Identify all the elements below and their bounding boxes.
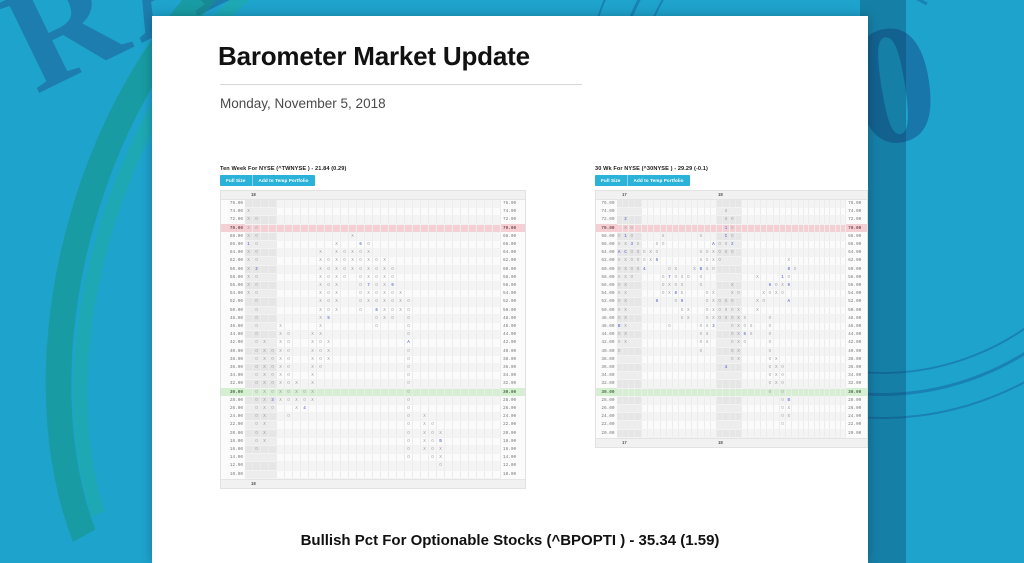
pnf-cell: X	[309, 364, 317, 372]
slide-document: Barometer Market Update Monday, November…	[152, 16, 868, 563]
pnf-cell	[477, 364, 485, 372]
pnf-cell	[389, 241, 397, 249]
pnf-cell	[341, 306, 349, 314]
pnf-cell	[421, 355, 429, 363]
pnf-o-mark: O	[618, 332, 621, 337]
pnf-o-mark: O	[775, 283, 778, 288]
pnf-cell: O	[253, 347, 261, 355]
pnf-cell: X	[317, 265, 325, 273]
pnf-row: 10.0010.00	[221, 470, 525, 478]
pnf-row: 62.00OXOXOX5XOXOX62.00	[596, 257, 867, 265]
pnf-cell	[493, 306, 501, 314]
pnf-cell	[397, 462, 405, 470]
pnf-x-mark: X	[693, 267, 696, 272]
pnf-cell: X	[317, 298, 325, 306]
pnf-cell	[493, 429, 501, 437]
pnf-cell	[341, 462, 349, 470]
pnf-cell	[453, 364, 461, 372]
pnf-cell: X	[421, 413, 429, 421]
add-to-temp-portfolio-button[interactable]: Add to Temp Portfolio	[252, 175, 315, 186]
pnf-cell	[269, 470, 277, 478]
pnf-x-mark: X	[649, 258, 652, 263]
y-axis-label-right: 52.00	[846, 298, 867, 306]
pnf-month-marker: B	[439, 439, 442, 444]
pnf-row: 32.00OXOXOXXO32.00	[221, 380, 525, 388]
pnf-x-mark: X	[263, 381, 266, 386]
pnf-cell	[301, 355, 309, 363]
pnf-cell	[373, 216, 381, 224]
pnf-o-mark: O	[731, 250, 734, 255]
pnf-cell	[461, 298, 469, 306]
pnf-cell	[493, 290, 501, 298]
pnf-cell	[469, 282, 477, 290]
pnf-x-mark: X	[247, 217, 250, 222]
pnf-row: 50.00OXOXOXOXOXX50.00	[596, 306, 867, 314]
pnf-cell	[381, 470, 389, 478]
pnf-cell	[413, 232, 421, 240]
pnf-cell	[461, 462, 469, 470]
pnf-cell	[317, 208, 325, 216]
pnf-row: 28.00OX3XOXOXO28.00	[221, 396, 525, 404]
pnf-cell	[469, 314, 477, 322]
pnf-cell: O	[389, 306, 397, 314]
pnf-cell	[493, 257, 501, 265]
pnf-cell: O	[341, 249, 349, 257]
pnf-cell: O	[253, 232, 261, 240]
pnf-o-mark: O	[407, 398, 410, 403]
pnf-x-mark: X	[311, 398, 314, 403]
pnf-cell	[389, 323, 397, 331]
pnf-cell	[485, 224, 493, 232]
pnf-cell	[445, 331, 453, 339]
pnf-o-mark: O	[375, 267, 378, 272]
pnf-cell: A	[405, 339, 413, 347]
year-bar-bottom-1: 1718	[596, 438, 867, 447]
pnf-o-mark: O	[687, 275, 690, 280]
pnf-cell: X	[261, 421, 269, 429]
pnf-cell	[301, 429, 309, 437]
pnf-cell	[493, 200, 501, 208]
pnf-o-mark: O	[700, 283, 703, 288]
pnf-cell	[493, 273, 501, 281]
pnf-o-mark: O	[643, 258, 646, 263]
pnf-cell	[325, 429, 333, 437]
pnf-x-mark: X	[712, 258, 715, 263]
pnf-cell	[373, 355, 381, 363]
pnf-cell: X	[365, 257, 373, 265]
pnf-month-marker: 1	[725, 226, 728, 231]
y-axis-label-right: 60.00	[501, 265, 526, 273]
pnf-x-mark: X	[295, 406, 298, 411]
pnf-cell	[413, 372, 421, 380]
y-axis-label-right: 72.00	[846, 216, 867, 224]
pnf-cell	[301, 273, 309, 281]
pnf-x-mark: X	[319, 324, 322, 329]
pnf-cell	[269, 249, 277, 257]
pnf-cell	[445, 347, 453, 355]
pnf-cell	[413, 413, 421, 421]
pnf-o-mark: O	[255, 422, 258, 427]
pnf-cell	[357, 339, 365, 347]
pnf-row: 44.00OXOXOX5XO44.00	[596, 331, 867, 339]
pnf-cell	[381, 216, 389, 224]
pnf-cell	[445, 298, 453, 306]
pnf-cell	[469, 249, 477, 257]
pnf-cell	[461, 306, 469, 314]
pnf-month-marker: A	[712, 242, 715, 247]
pnf-cell	[405, 216, 413, 224]
pnf-o-mark: O	[255, 332, 258, 337]
pnf-month-marker: 9	[681, 299, 684, 304]
pnf-cell	[285, 323, 293, 331]
pnf-o-mark: O	[618, 299, 621, 304]
pnf-cell: O	[253, 241, 261, 249]
pnf-cell	[477, 290, 485, 298]
pnf-cell: O	[285, 413, 293, 421]
pnf-cell: O	[317, 339, 325, 347]
pnf-cell	[309, 446, 317, 454]
pnf-row: 22.00OXOXO22.00	[221, 421, 525, 429]
pnf-month-marker: A	[407, 340, 410, 345]
pnf-x-mark: X	[775, 357, 778, 362]
pnf-cell	[357, 396, 365, 404]
pnf-cell	[469, 446, 477, 454]
pnf-cell: O	[357, 290, 365, 298]
pnf-cell	[469, 380, 477, 388]
pnf-cell	[293, 470, 301, 478]
y-axis-label-right: 72.00	[501, 216, 526, 224]
pnf-cell	[397, 200, 405, 208]
pnf-x-mark: X	[668, 283, 671, 288]
pnf-x-mark: X	[351, 267, 354, 272]
pnf-cell	[413, 208, 421, 216]
pnf-cell	[261, 470, 269, 478]
pnf-cell	[277, 421, 285, 429]
pnf-month-marker: B	[700, 267, 703, 272]
pnf-cell	[485, 290, 493, 298]
pnf-cell	[413, 282, 421, 290]
pnf-cell	[437, 396, 445, 404]
pnf-cell: O	[341, 265, 349, 273]
pnf-cell	[485, 446, 493, 454]
add-to-temp-portfolio-button[interactable]: Add to Temp Portfolio	[627, 175, 690, 186]
pnf-o-mark: O	[618, 258, 621, 263]
pnf-cell	[493, 454, 501, 462]
pnf-cell	[405, 290, 413, 298]
pnf-cell	[413, 421, 421, 429]
pnf-cell	[245, 454, 253, 462]
pnf-cell	[357, 314, 365, 322]
pnf-cell	[485, 241, 493, 249]
year-label: 17	[622, 192, 627, 197]
pnf-o-mark: O	[271, 373, 274, 378]
pnf-row: 26.00OX26.00	[596, 405, 867, 413]
pnf-cell	[493, 224, 501, 232]
pnf-cell	[325, 421, 333, 429]
pnf-cell	[357, 454, 365, 462]
pnf-x-mark: X	[263, 398, 266, 403]
pnf-cell	[461, 413, 469, 421]
pnf-cell	[373, 446, 381, 454]
pnf-cell	[453, 249, 461, 257]
pnf-row: 30.00OXOXOXOXO30.00	[221, 388, 525, 396]
pnf-cell: O	[301, 388, 309, 396]
pnf-o-mark: O	[681, 316, 684, 321]
full-size-button[interactable]: Full Size	[595, 175, 627, 186]
y-axis-label-left: 48.00	[221, 314, 245, 322]
pnf-grid-ten-week-nyse: 76.0076.0074.00X74.0072.00XO72.0070.00XO…	[221, 200, 525, 479]
pnf-cell	[317, 462, 325, 470]
pnf-o-mark: O	[718, 242, 721, 247]
y-axis-label-left: 74.00	[596, 208, 617, 216]
pnf-cell	[325, 364, 333, 372]
y-axis-label-left: 32.00	[596, 380, 617, 388]
pnf-x-mark: X	[311, 390, 314, 395]
y-axis-label-left: 26.00	[596, 405, 617, 413]
pnf-cell	[461, 405, 469, 413]
pnf-o-mark: O	[431, 431, 434, 436]
pnf-cell: X	[245, 282, 253, 290]
pnf-cell: O	[285, 331, 293, 339]
pnf-cell: X	[245, 208, 253, 216]
pnf-cell	[485, 265, 493, 273]
pnf-cell	[429, 265, 437, 273]
pnf-chart-ten-week-nyse[interactable]: 18 76.0076.0074.00X74.0072.00XO72.0070.0…	[220, 190, 526, 489]
pnf-x-mark: X	[681, 283, 684, 288]
pnf-cell: X	[325, 347, 333, 355]
pnf-cell	[245, 200, 253, 208]
pnf-cell	[477, 241, 485, 249]
pnf-cell	[421, 339, 429, 347]
pnf-o-mark: O	[327, 299, 330, 304]
pnf-cell	[485, 232, 493, 240]
pnf-cell: X	[245, 290, 253, 298]
y-axis-label-right: 22.00	[846, 421, 867, 429]
pnf-cell: X	[349, 249, 357, 257]
pnf-cell	[381, 462, 389, 470]
pnf-cell	[277, 437, 285, 445]
pnf-cell	[437, 306, 445, 314]
pnf-cell	[365, 446, 373, 454]
pnf-cell	[245, 323, 253, 331]
pnf-x-mark: X	[731, 283, 734, 288]
pnf-cell	[301, 232, 309, 240]
pnf-cell	[381, 437, 389, 445]
pnf-cell	[277, 265, 285, 273]
pnf-cell	[397, 364, 405, 372]
y-axis-label-right: 54.00	[501, 290, 526, 298]
pnf-o-mark: O	[618, 283, 621, 288]
pnf-cell	[421, 331, 429, 339]
pnf-cell	[421, 396, 429, 404]
pnf-o-mark: O	[391, 291, 394, 296]
pnf-cell	[445, 224, 453, 232]
pnf-cell: O	[253, 429, 261, 437]
pnf-cell: O	[429, 437, 437, 445]
pnf-cell: O	[269, 405, 277, 413]
pnf-cell: 8	[373, 306, 381, 314]
pnf-o-mark: O	[255, 414, 258, 419]
pnf-cell	[469, 200, 477, 208]
pnf-cell	[477, 437, 485, 445]
pnf-o-mark: O	[359, 299, 362, 304]
pnf-cell	[301, 462, 309, 470]
pnf-cell	[325, 232, 333, 240]
pnf-cell: X	[317, 257, 325, 265]
pnf-o-mark: O	[662, 242, 665, 247]
pnf-o-mark: O	[731, 332, 734, 337]
pnf-cell	[341, 454, 349, 462]
pnf-cell	[293, 208, 301, 216]
pnf-cell: O	[365, 241, 373, 249]
pnf-o-mark: O	[431, 455, 434, 460]
pnf-chart-thirty-week-nyse[interactable]: 1718 76.0076.0074.00X74.0072.002XO72.007…	[595, 190, 868, 448]
pnf-o-mark: O	[319, 340, 322, 345]
pnf-cell	[453, 413, 461, 421]
pnf-cell	[301, 446, 309, 454]
pnf-o-mark: O	[343, 275, 346, 280]
pnf-x-mark: X	[712, 250, 715, 255]
pnf-x-mark: X	[327, 357, 330, 362]
pnf-x-mark: X	[247, 267, 250, 272]
pnf-cell: O	[285, 388, 293, 396]
pnf-o-mark: O	[731, 234, 734, 239]
pnf-cell	[261, 298, 269, 306]
pnf-cell	[485, 462, 493, 470]
pnf-cell	[485, 355, 493, 363]
pnf-cell	[477, 413, 485, 421]
pnf-cell	[485, 347, 493, 355]
pnf-cell	[429, 372, 437, 380]
pnf-cell	[333, 462, 341, 470]
pnf-o-mark: O	[319, 357, 322, 362]
pnf-cell	[421, 380, 429, 388]
pnf-row: 76.0076.00	[596, 200, 867, 208]
pnf-row: 22.00O22.00	[596, 421, 867, 429]
y-axis-label-right: 46.00	[501, 323, 526, 331]
y-axis-label-right: 56.00	[846, 282, 867, 290]
pnf-cell	[333, 372, 341, 380]
pnf-cell: X	[365, 265, 373, 273]
pnf-cell	[493, 470, 501, 478]
pnf-cell	[389, 232, 397, 240]
pnf-x-mark: X	[624, 291, 627, 296]
pnf-cell: X	[277, 396, 285, 404]
pnf-row: 38.00OXOXOXOXO38.00	[221, 355, 525, 363]
pnf-cell	[389, 470, 397, 478]
pnf-o-mark: O	[327, 275, 330, 280]
pnf-o-mark: O	[255, 234, 258, 239]
pnf-x-mark: X	[439, 431, 442, 436]
pnf-cell	[389, 257, 397, 265]
pnf-o-mark: O	[706, 291, 709, 296]
pnf-cell	[397, 380, 405, 388]
pnf-x-mark: X	[383, 267, 386, 272]
pnf-cell: O	[341, 257, 349, 265]
pnf-cell	[293, 437, 301, 445]
y-axis-label-right: 64.00	[846, 249, 867, 257]
pnf-cell: O	[405, 396, 413, 404]
pnf-cell	[469, 462, 477, 470]
pnf-cell: X	[277, 364, 285, 372]
pnf-o-mark: O	[359, 308, 362, 313]
pnf-month-marker: 6	[656, 299, 659, 304]
pnf-month-marker: 8	[788, 267, 791, 272]
pnf-row: 58.00OXOO7OXOOX1O58.00	[596, 273, 867, 281]
pnf-cell	[493, 208, 501, 216]
pnf-cell	[453, 314, 461, 322]
pnf-cell	[469, 298, 477, 306]
pnf-cell: X	[317, 323, 325, 331]
pnf-cell	[293, 298, 301, 306]
pnf-cell: X	[421, 446, 429, 454]
y-axis-label-right: 76.00	[846, 200, 867, 208]
pnf-cell	[461, 241, 469, 249]
pnf-row: 18.00OXOXOB18.00	[221, 437, 525, 445]
pnf-cell: X	[333, 273, 341, 281]
pnf-cell: O	[253, 314, 261, 322]
pnf-o-mark: O	[718, 316, 721, 321]
pnf-o-mark: O	[630, 226, 633, 231]
pnf-cell: 6	[357, 241, 365, 249]
y-axis-label-left: 26.00	[221, 405, 245, 413]
pnf-cell: X	[333, 249, 341, 257]
pnf-row: 58.00XOXOXOOXOXO58.00	[221, 273, 525, 281]
pnf-x-mark: X	[335, 291, 338, 296]
pnf-cell	[469, 331, 477, 339]
pnf-cell	[357, 347, 365, 355]
pnf-cell	[365, 429, 373, 437]
pnf-cell	[477, 200, 485, 208]
pnf-cell	[429, 462, 437, 470]
pnf-cell	[389, 331, 397, 339]
pnf-x-mark: X	[311, 332, 314, 337]
full-size-button[interactable]: Full Size	[220, 175, 252, 186]
pnf-cell	[325, 372, 333, 380]
pnf-cell	[421, 232, 429, 240]
pnf-o-mark: O	[656, 250, 659, 255]
pnf-cell: O	[389, 290, 397, 298]
pnf-x-mark: X	[319, 299, 322, 304]
pnf-cell: B	[437, 437, 445, 445]
pnf-row: 60.00X2XOXOXOXOXO60.00	[221, 265, 525, 273]
pnf-cell	[405, 208, 413, 216]
pnf-o-mark: O	[618, 308, 621, 313]
pnf-o-mark: O	[769, 365, 772, 370]
pnf-cell	[469, 273, 477, 281]
pnf-cell: X	[381, 290, 389, 298]
pnf-cell	[413, 298, 421, 306]
pnf-cell	[413, 314, 421, 322]
pnf-cell	[293, 331, 301, 339]
pnf-month-marker: 3	[712, 324, 715, 329]
pnf-cell	[349, 339, 357, 347]
pnf-cell: O	[389, 265, 397, 273]
pnf-cell: X	[261, 380, 269, 388]
pnf-cell	[245, 396, 253, 404]
y-axis-label-left: 24.00	[221, 413, 245, 421]
pnf-o-mark: O	[407, 316, 410, 321]
pnf-cell	[485, 339, 493, 347]
pnf-cell	[461, 257, 469, 265]
pnf-o-mark: O	[255, 250, 258, 255]
pnf-cell	[421, 257, 429, 265]
pnf-cell: X	[277, 372, 285, 380]
pnf-cell: O	[253, 290, 261, 298]
pnf-x-mark: X	[263, 349, 266, 354]
pnf-cell: X	[261, 413, 269, 421]
pnf-month-marker: 1	[781, 275, 784, 280]
